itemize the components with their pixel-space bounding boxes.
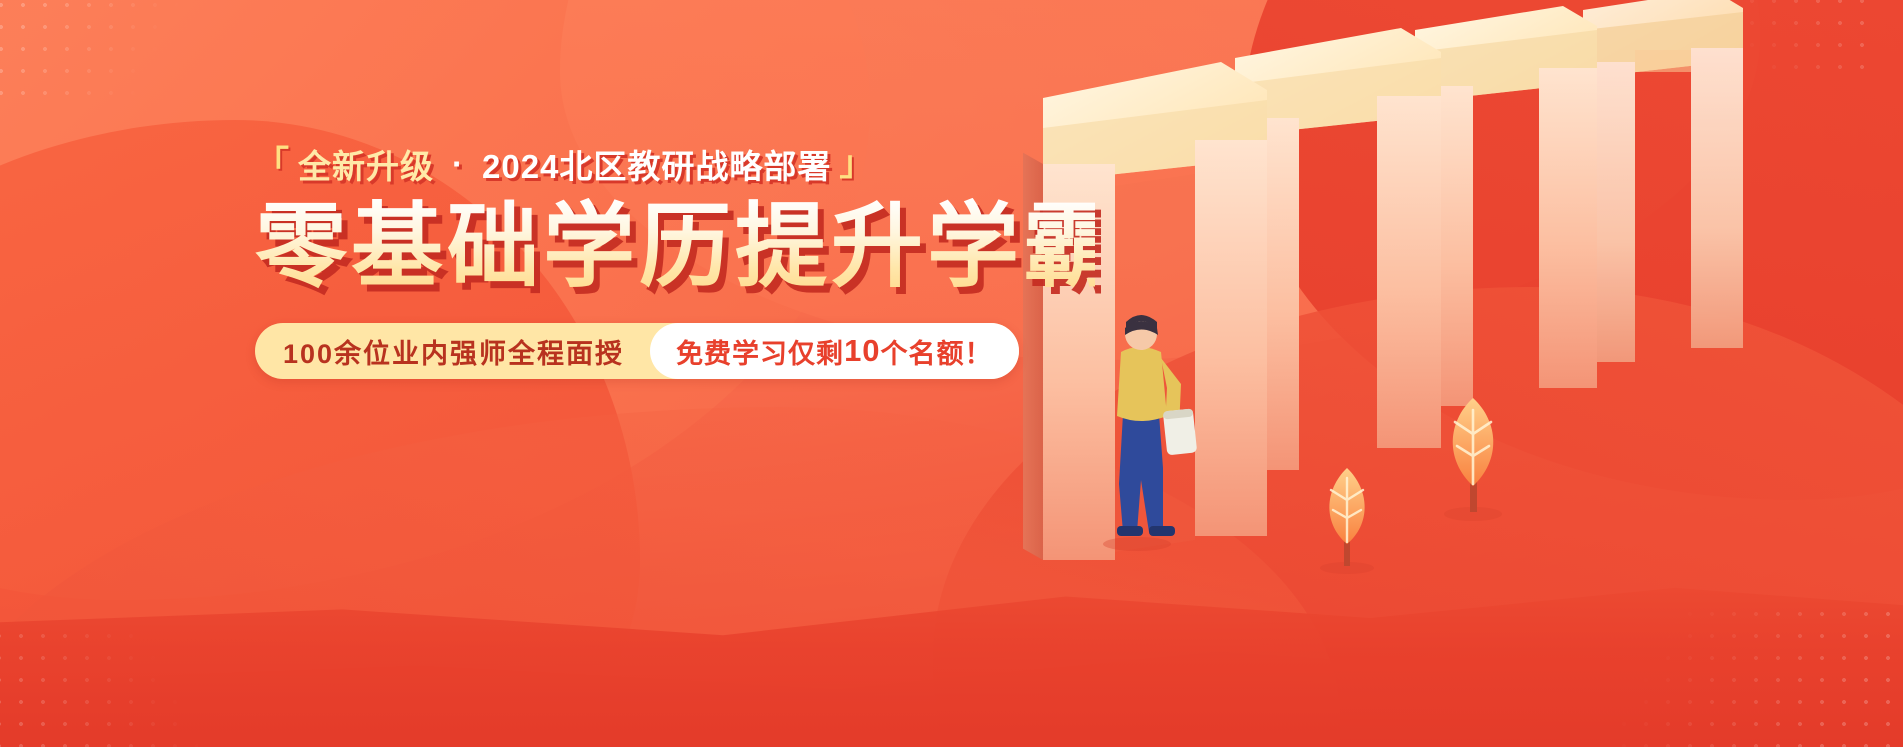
banner-subtitle: 「 全新升级 · 2024北区教研战略部署 」 (255, 140, 1095, 188)
books-illustration (1023, 0, 1903, 747)
subtitle-highlight: 全新升级 (298, 140, 434, 188)
books-illustration-svg (1023, 0, 1903, 747)
tree-mid (1320, 468, 1374, 574)
badge-count: 10 (844, 333, 880, 369)
badge-suffix: 个名额！ (881, 332, 993, 371)
benefits-pill: 100余位业内强师全程面授 免费学习仅剩 10 个名额！ (255, 323, 1019, 379)
badge-prefix: 免费学习仅剩 (676, 332, 844, 371)
tree-right (1444, 398, 1502, 521)
bracket-close-icon: 」 (839, 147, 874, 181)
promo-banner: 「 全新升级 · 2024北区教研战略部署 」 零基础学历提升学霸班 100余位… (0, 0, 1903, 747)
dot-grid-top-left-icon (0, 0, 190, 104)
subtitle-rest: 2024北区教研战略部署 (482, 140, 831, 188)
benefit-teachers-label: 100余位业内强师全程面授 (283, 323, 650, 379)
bracket-open-icon: 「 (255, 147, 290, 181)
dot-grid-bottom-left-icon (0, 625, 198, 747)
status-badge: 免费学习仅剩 10 个名额！ (650, 323, 1018, 379)
page-title: 零基础学历提升学霸班 (255, 198, 1095, 297)
banner-copy: 「 全新升级 · 2024北区教研战略部署 」 零基础学历提升学霸班 100余位… (255, 140, 1095, 379)
subtitle-separator-icon: · (442, 145, 474, 183)
